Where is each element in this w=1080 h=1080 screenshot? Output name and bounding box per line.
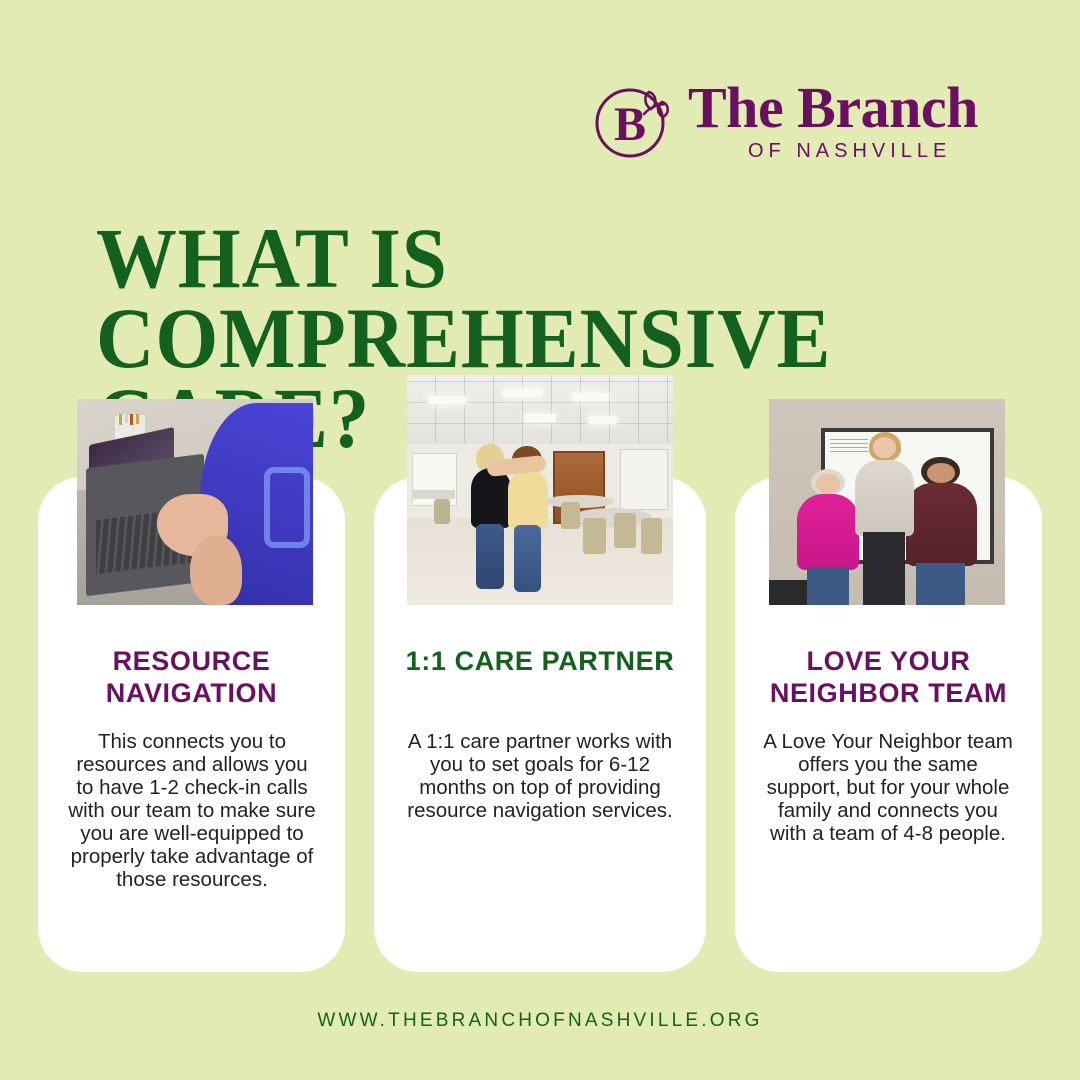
footer-website-url[interactable]: WWW.THEBRANCHOFNASHVILLE.ORG — [0, 1010, 1080, 1032]
card-heading-resource-navigation: RESOURCE NAVIGATION — [38, 645, 345, 709]
card-body-love-your-neighbor-team: A Love Your Neighbor team offers you the… — [762, 730, 1014, 845]
card-heading-love-your-neighbor-team: LOVE YOUR NEIGHBOR TEAM — [735, 645, 1042, 709]
poster-canvas: B The Branch OF NASHVILLE WHAT IS COMPRE… — [0, 0, 1080, 1080]
card-body-resource-navigation: This connects you to resources and allow… — [66, 730, 318, 891]
service-cards: RESOURCE NAVIGATION 1:1 CARE PARTNER LOV… — [0, 0, 1080, 1080]
photo-one-to-one-care-partner — [407, 375, 673, 605]
photo-resource-navigation — [77, 399, 313, 605]
card-body-one-to-one-care-partner: A 1:1 care partner works with you to set… — [404, 730, 676, 822]
photo-love-your-neighbor-team — [769, 399, 1005, 605]
card-heading-one-to-one-care-partner: 1:1 CARE PARTNER — [374, 645, 706, 677]
